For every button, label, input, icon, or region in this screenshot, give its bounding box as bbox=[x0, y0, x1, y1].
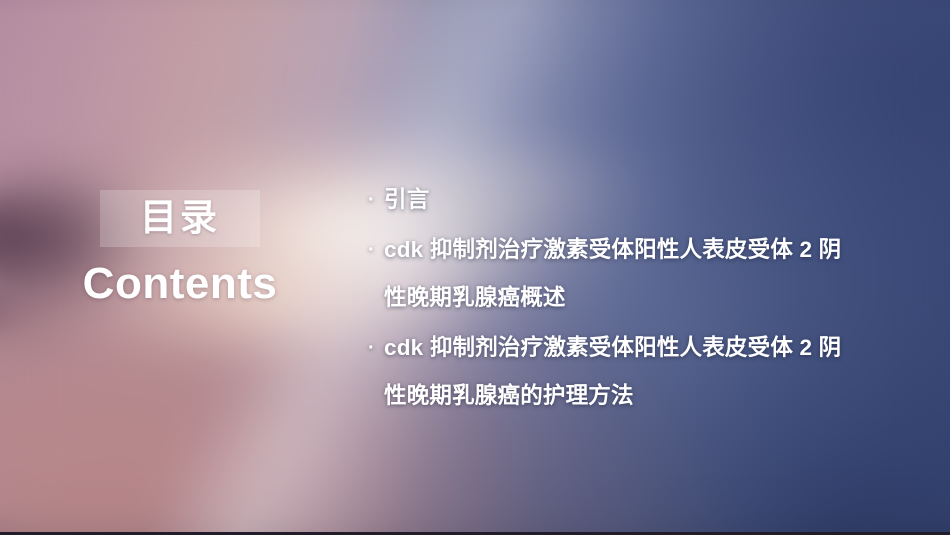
page-title-cn: 目录 bbox=[140, 199, 220, 236]
title-plate: 目录 bbox=[100, 190, 260, 247]
contents-item-3[interactable]: · cdk 抑制剂治疗激素受体阳性人表皮受体 2 阴性晚期乳腺癌的护理方法 bbox=[366, 324, 858, 420]
page-title-en: Contents bbox=[46, 261, 314, 307]
contents-item-label: 引言 bbox=[384, 187, 429, 212]
bullet-icon: · bbox=[368, 226, 380, 274]
contents-slide: 目录 Contents · 引言 · cdk 抑制剂治疗激素受体阳性人表皮受体 … bbox=[0, 0, 950, 535]
contents-item-2[interactable]: · cdk 抑制剂治疗激素受体阳性人表皮受体 2 阴性晚期乳腺癌概述 bbox=[366, 226, 858, 322]
contents-item-label: cdk 抑制剂治疗激素受体阳性人表皮受体 2 阴性晚期乳腺癌的护理方法 bbox=[384, 335, 841, 408]
bullet-icon: · bbox=[368, 324, 380, 372]
contents-item-1[interactable]: · 引言 bbox=[366, 176, 858, 224]
contents-list: · 引言 · cdk 抑制剂治疗激素受体阳性人表皮受体 2 阴性晚期乳腺癌概述 … bbox=[366, 176, 858, 422]
contents-item-label: cdk 抑制剂治疗激素受体阳性人表皮受体 2 阴性晚期乳腺癌概述 bbox=[384, 237, 841, 310]
bullet-icon: · bbox=[368, 176, 380, 224]
slide-title-block: 目录 Contents bbox=[46, 190, 314, 307]
